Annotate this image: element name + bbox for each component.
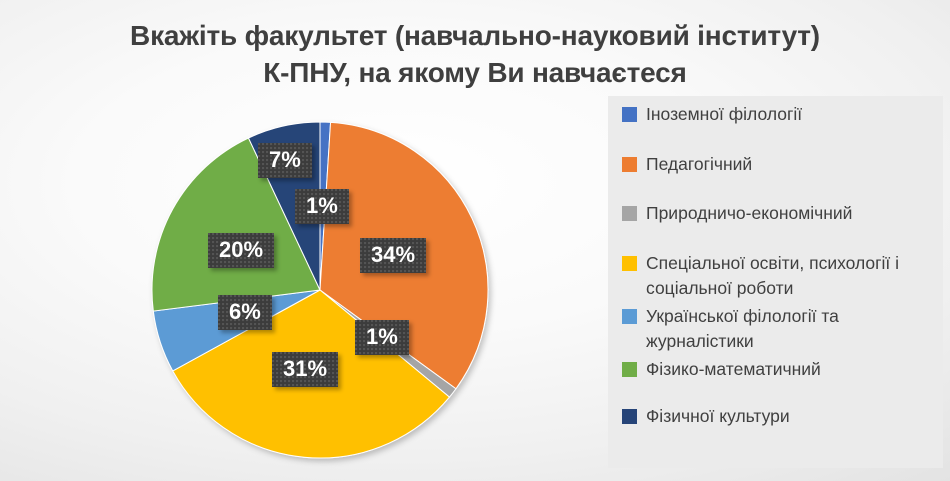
legend-item[interactable]: Фізичної культури xyxy=(622,404,935,430)
legend-item[interactable]: Природничо-економічний xyxy=(622,201,935,227)
data-label-ukrainskoi-filologii: 6% xyxy=(218,295,272,330)
legend-item[interactable]: Іноземної філології xyxy=(622,102,935,128)
legend-item[interactable]: Спеціальної освіти, психології і соціаль… xyxy=(622,251,935,302)
legend-item[interactable]: Педагогічний xyxy=(622,152,935,178)
legend-item-label: Фізичної культури xyxy=(646,404,790,430)
legend-color-swatch xyxy=(622,362,637,377)
data-label-fizyko-matematychnyi: 20% xyxy=(208,233,274,268)
legend-item[interactable]: Української філології та журналістики xyxy=(622,304,935,355)
data-label-spetsialnoi-osvity: 31% xyxy=(272,352,338,387)
data-label-pryrodnycho-ekonomichnyi: 1% xyxy=(355,320,409,355)
legend-color-swatch xyxy=(622,409,637,424)
legend-color-swatch xyxy=(622,206,637,221)
plot-area: 1% 34% 1% 31% 6% 20% 7% xyxy=(0,0,608,481)
legend-color-swatch xyxy=(622,256,637,271)
pie-chart[interactable] xyxy=(150,120,490,460)
legend-item-label: Спеціальної освіти, психології і соціаль… xyxy=(646,251,935,302)
data-label-fizychnoi-kultury: 7% xyxy=(258,143,312,178)
legend-color-swatch xyxy=(622,107,637,122)
data-label-inozemnoi-filologii: 1% xyxy=(295,189,349,224)
legend-item-label: Педагогічний xyxy=(646,152,752,178)
legend-color-swatch xyxy=(622,157,637,172)
legend-item-label: Іноземної філології xyxy=(646,102,802,128)
legend-item-label: Природничо-економічний xyxy=(646,201,852,227)
legend-item-label: Фізико-математичний xyxy=(646,357,821,383)
data-label-pedagogichnyi: 34% xyxy=(360,238,426,273)
legend-item-label: Української філології та журналістики xyxy=(646,304,935,355)
legend-item[interactable]: Фізико-математичний xyxy=(622,357,935,383)
legend-color-swatch xyxy=(622,309,637,324)
pie-slices xyxy=(152,122,488,458)
chart-legend: Іноземної філологіїПедагогічнийПрироднич… xyxy=(608,96,943,468)
